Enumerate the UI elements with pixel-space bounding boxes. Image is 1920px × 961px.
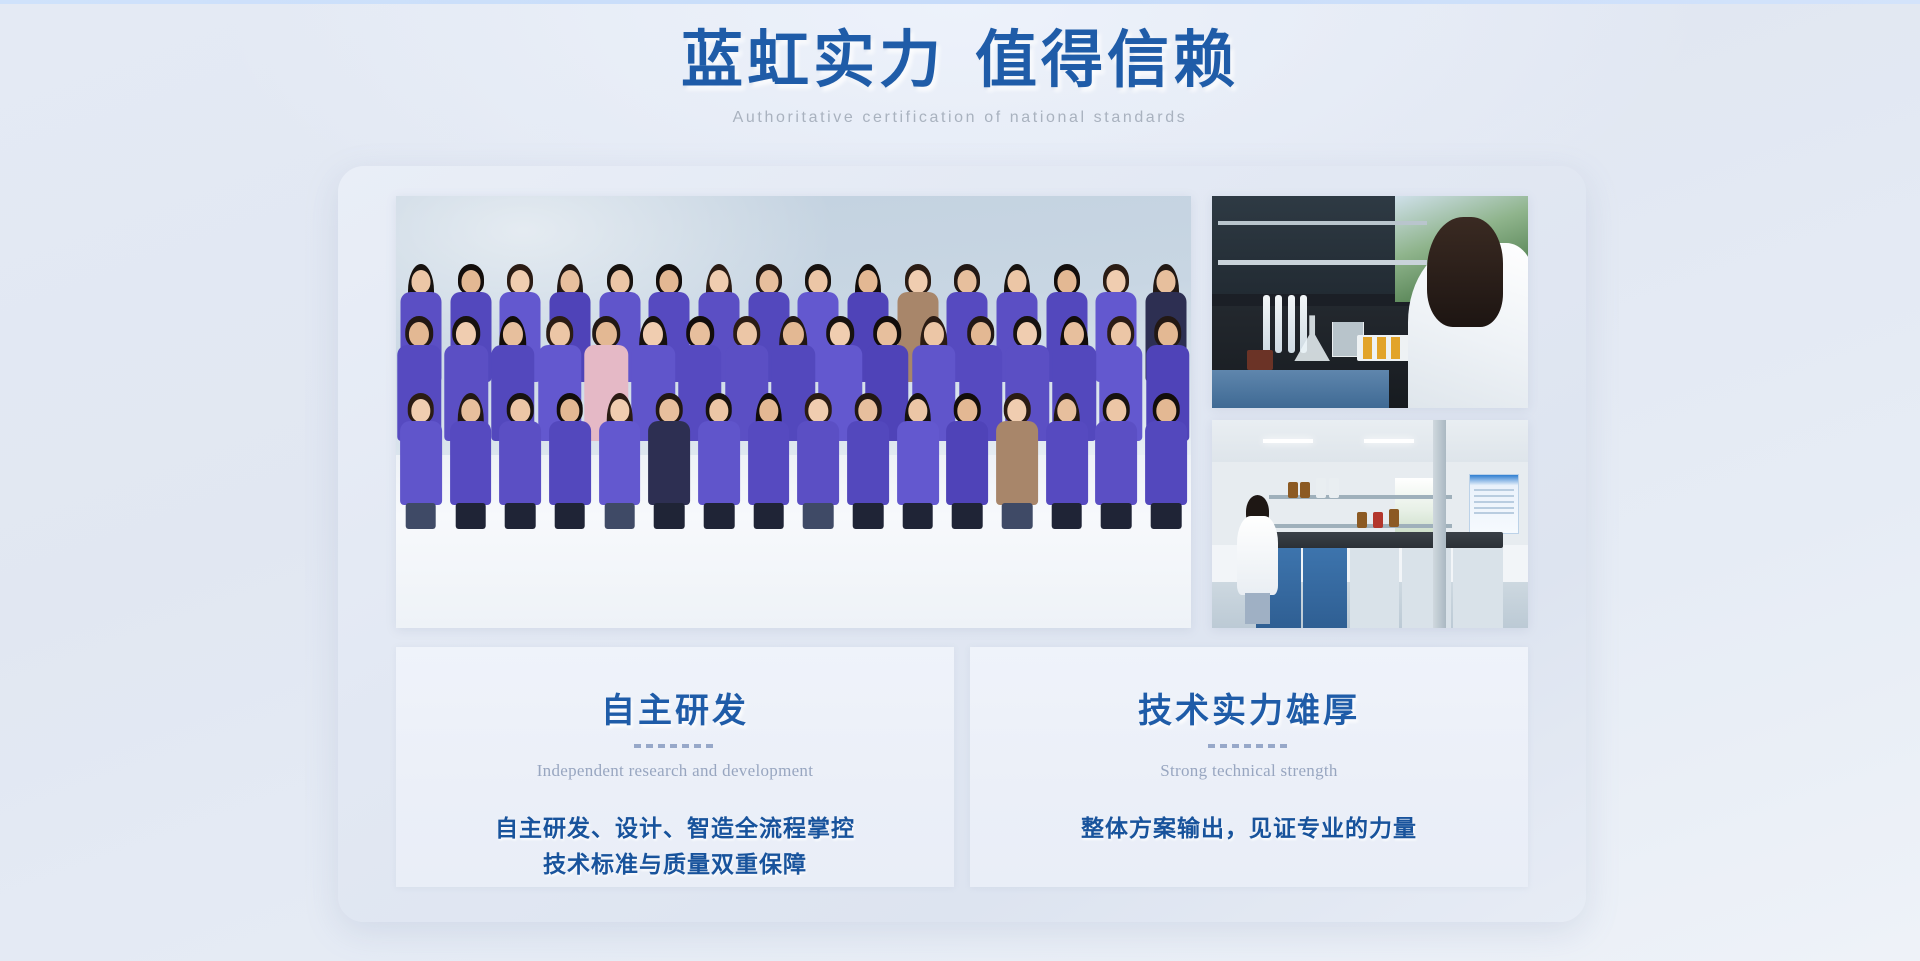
lab-bench-front — [1212, 370, 1389, 408]
card-description: 自主研发、设计、智造全流程掌控 技术标准与质量双重保障 — [396, 811, 954, 882]
person-face — [759, 270, 778, 293]
pipette-icon — [1288, 295, 1295, 353]
person-jacket — [698, 421, 740, 505]
person-jacket — [946, 421, 988, 505]
card-description-line1: 整体方案输出，见证专业的力量 — [970, 811, 1528, 847]
person-legs — [505, 503, 536, 529]
person-figure — [448, 393, 493, 507]
person-face — [643, 322, 663, 346]
card-title: 技术实力雄厚 — [970, 683, 1528, 732]
person-figure — [398, 393, 443, 507]
person-face — [908, 270, 927, 293]
person-figure — [846, 393, 891, 507]
lab-lower-shelf — [1218, 260, 1427, 265]
person-face — [1057, 270, 1076, 293]
person-face — [411, 270, 430, 293]
top-accent-strip — [0, 0, 1920, 4]
person-jacket — [996, 421, 1038, 505]
pipette-icon — [1263, 295, 1270, 353]
person-face — [461, 270, 480, 293]
card-description-line1: 自主研发、设计、智造全流程掌控 — [396, 811, 954, 847]
person-face — [859, 270, 878, 293]
bench-cabinet-blue — [1303, 548, 1347, 628]
person-legs — [803, 503, 834, 529]
person-legs — [952, 503, 983, 529]
person-figure — [895, 393, 940, 507]
technician-labcoat — [1237, 516, 1278, 596]
page-title: 蓝虹实力值得信赖 — [0, 26, 1920, 97]
ceiling-light — [1364, 439, 1415, 443]
person-figure — [945, 393, 990, 507]
person-figure — [498, 393, 543, 507]
card-description: 整体方案输出，见证专业的力量 — [970, 811, 1528, 847]
person-face — [1111, 322, 1131, 346]
person-legs — [455, 503, 486, 529]
content-panel: 自主研发 Independent research and developmen… — [338, 166, 1586, 922]
person-figure — [796, 393, 841, 507]
reagent-bottle-icon — [1373, 512, 1383, 528]
person-legs — [406, 503, 437, 529]
person-figure — [1044, 393, 1089, 507]
person-face — [690, 322, 710, 346]
person-figure — [1144, 393, 1189, 507]
person-figure — [647, 393, 692, 507]
person-face — [1107, 270, 1126, 293]
team-group-photo[interactable] — [396, 196, 1191, 628]
lab-room-photo[interactable] — [1212, 420, 1528, 628]
feature-cards: 自主研发 Independent research and developmen… — [396, 647, 1528, 887]
person-jacket — [748, 421, 790, 505]
person-jacket — [549, 421, 591, 505]
person-face — [1017, 322, 1037, 346]
person-face — [660, 270, 679, 293]
reagent-bottle-icon — [1329, 478, 1339, 498]
person-jacket — [599, 421, 641, 505]
person-jacket — [1096, 421, 1138, 505]
dashed-divider — [1208, 744, 1290, 748]
person-legs — [555, 503, 586, 529]
ceiling-light — [1263, 439, 1314, 443]
bench-service-column — [1433, 420, 1446, 628]
lab-room-scene — [1212, 420, 1528, 628]
person-figure — [547, 393, 592, 507]
person-legs — [604, 503, 635, 529]
lab-back-wall — [1212, 196, 1408, 294]
safety-poster — [1469, 474, 1518, 534]
page-header: 蓝虹实力值得信赖 Authoritative certification of … — [0, 26, 1920, 127]
bench-cabinet-white — [1453, 548, 1502, 628]
person-face — [610, 270, 629, 293]
person-legs — [902, 503, 933, 529]
person-face — [550, 322, 570, 346]
person-face — [596, 322, 616, 346]
person-jacket — [897, 421, 939, 505]
team-photo-people — [396, 239, 1191, 507]
person-jacket — [847, 421, 889, 505]
person-face — [958, 270, 977, 293]
person-legs — [1002, 503, 1033, 529]
technician-hair — [1427, 217, 1503, 327]
person-jacket — [450, 421, 492, 505]
lab-technician — [1237, 495, 1278, 624]
pipette-icon — [1275, 295, 1282, 353]
card-title: 自主研发 — [396, 683, 954, 732]
person-legs — [853, 503, 884, 529]
lab-island-bench — [1256, 532, 1502, 628]
page-background: 蓝虹实力值得信赖 Authoritative certification of … — [0, 0, 1920, 961]
person-face — [709, 270, 728, 293]
card-subtitle-en: Independent research and development — [396, 761, 954, 781]
person-face — [1158, 322, 1178, 346]
lab-ceiling — [1212, 420, 1528, 466]
lab-pipetting-photo[interactable] — [1212, 196, 1528, 408]
person-legs — [1151, 503, 1182, 529]
person-jacket — [1145, 421, 1187, 505]
dashed-divider — [634, 744, 716, 748]
person-figure — [597, 393, 642, 507]
person-face — [1008, 270, 1027, 293]
person-figure — [697, 393, 742, 507]
person-face — [560, 270, 579, 293]
bench-top — [1256, 532, 1502, 547]
card-description-line2: 技术标准与质量双重保障 — [396, 847, 954, 883]
person-face — [783, 322, 803, 346]
person-figure — [1094, 393, 1139, 507]
person-jacket — [797, 421, 839, 505]
person-jacket — [1046, 421, 1088, 505]
feature-card-technical-strength[interactable]: 技术实力雄厚 Strong technical strength 整体方案输出，… — [970, 647, 1528, 887]
reagent-bottle-icon — [1357, 512, 1367, 528]
page-title-part2: 值得信赖 — [975, 27, 1239, 95]
person-legs — [704, 503, 735, 529]
person-face — [970, 322, 990, 346]
person-face — [809, 270, 828, 293]
feature-card-independent-rd[interactable]: 自主研发 Independent research and developmen… — [396, 647, 954, 887]
person-jacket — [648, 421, 690, 505]
person-figure — [995, 393, 1040, 507]
person-face — [456, 322, 476, 346]
person-face — [511, 270, 530, 293]
person-face — [737, 322, 757, 346]
reagent-bottle-icon — [1300, 482, 1310, 498]
person-face — [1064, 322, 1084, 346]
reagent-bottle-icon — [1288, 482, 1298, 498]
media-grid — [396, 196, 1528, 628]
person-face — [1157, 270, 1176, 293]
reagent-bottle-icon — [1316, 478, 1326, 498]
card-subtitle-en: Strong technical strength — [970, 761, 1528, 781]
reagent-bottle-icon — [1389, 509, 1399, 527]
lab-upper-shelf — [1218, 221, 1427, 225]
page-subtitle: Authoritative certification of national … — [0, 109, 1920, 127]
person-face — [830, 322, 850, 346]
person-legs — [654, 503, 685, 529]
person-face — [877, 322, 897, 346]
bench-cabinet-white — [1350, 548, 1399, 628]
person-legs — [753, 503, 784, 529]
technician-legs — [1245, 593, 1270, 624]
person-figure — [746, 393, 791, 507]
reagent-bottle-icon — [1258, 350, 1273, 370]
lab-pipetting-scene — [1212, 196, 1528, 408]
person-jacket — [400, 421, 442, 505]
person-legs — [1051, 503, 1082, 529]
page-title-part1: 蓝虹实力 — [681, 27, 945, 95]
person-face — [503, 322, 523, 346]
person-legs — [1101, 503, 1132, 529]
person-face — [924, 322, 944, 346]
person-jacket — [499, 421, 541, 505]
person-face — [409, 322, 429, 346]
